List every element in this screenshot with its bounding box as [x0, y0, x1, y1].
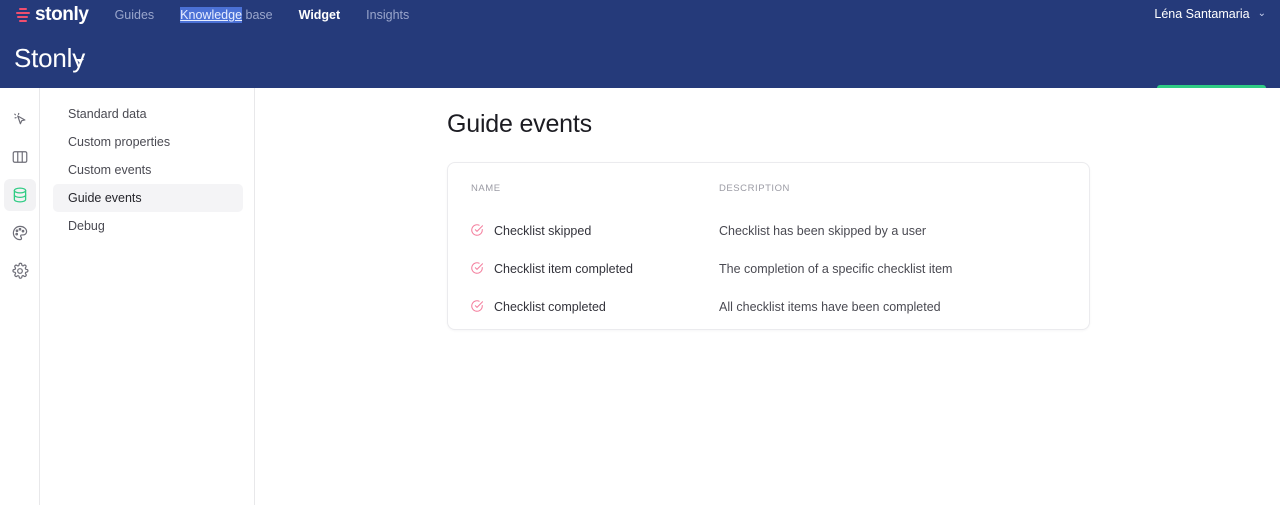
column-header-description: Description [719, 183, 790, 194]
rail-item-targeting[interactable] [4, 103, 36, 135]
sidebar-item-custom-events[interactable]: Custom events [53, 156, 243, 184]
stonly-logo[interactable]: stonly [16, 4, 89, 26]
check-circle-icon [470, 261, 484, 275]
check-circle-icon [470, 223, 484, 237]
icon-rail [0, 88, 40, 505]
rail-item-data[interactable] [4, 179, 36, 211]
nav-link-knowledge-selected-text: Knowledge [180, 7, 242, 23]
table-header-row: Name Description [448, 163, 1089, 213]
user-account-menu[interactable]: Léna Santamaria ⌄ [1154, 7, 1266, 21]
event-name: Checklist item completed [494, 262, 633, 276]
sidebar-item-debug[interactable]: Debug [53, 212, 243, 240]
nav-link-guides[interactable]: Guides [115, 8, 155, 22]
page-title: Guide events [447, 110, 592, 139]
palette-icon [11, 224, 29, 242]
rail-item-appearance[interactable] [4, 217, 36, 249]
stonly-stack-icon [16, 8, 30, 23]
logo-wordmark: stonly [35, 4, 89, 26]
nav-link-widget[interactable]: Widget [299, 8, 341, 22]
table-row[interactable]: Checklist item completed The completion … [448, 251, 1089, 289]
gear-icon [11, 262, 29, 280]
database-icon [11, 186, 29, 204]
main-content: Guide events Name Description Checklist … [255, 88, 1280, 505]
event-name: Checklist skipped [494, 224, 591, 238]
event-name: Checklist completed [494, 300, 606, 314]
guide-events-table-card: Name Description Checklist skipped Check… [447, 162, 1090, 330]
secondary-sidebar: Standard data Custom properties Custom e… [41, 88, 255, 505]
table-row[interactable]: Checklist completed All checklist items … [448, 289, 1089, 327]
sidebar-item-custom-properties[interactable]: Custom properties [53, 128, 243, 156]
cursor-click-icon [11, 110, 29, 128]
primary-nav: stonly Guides Knowledge base Widget Insi… [0, 0, 1280, 30]
event-description: Checklist has been skipped by a user [719, 224, 926, 238]
rail-item-layouts[interactable] [4, 141, 36, 173]
event-description: The completion of a specific checklist i… [719, 262, 952, 276]
workspace-name[interactable]: Stonly [14, 43, 85, 74]
workspace-header: Stonly Widget activated [0, 34, 1280, 88]
rail-item-settings[interactable] [4, 255, 36, 287]
columns-layout-icon [11, 148, 29, 166]
table-row[interactable]: Checklist skipped Checklist has been ski… [448, 213, 1089, 251]
sidebar-item-guide-events[interactable]: Guide events [53, 184, 243, 212]
event-description: All checklist items have been completed [719, 300, 941, 314]
top-header-bar: stonly Guides Knowledge base Widget Insi… [0, 0, 1280, 88]
sidebar-item-standard-data[interactable]: Standard data [53, 100, 243, 128]
nav-link-insights[interactable]: Insights [366, 8, 409, 22]
user-name-label: Léna Santamaria [1154, 7, 1249, 21]
chevron-down-icon: ⌄ [1258, 9, 1266, 19]
column-header-name: Name [471, 183, 501, 194]
nav-link-knowledge-base[interactable]: Knowledge base [180, 8, 272, 22]
check-circle-icon [470, 299, 484, 313]
workspace-chevron-down-icon[interactable] [76, 59, 84, 63]
